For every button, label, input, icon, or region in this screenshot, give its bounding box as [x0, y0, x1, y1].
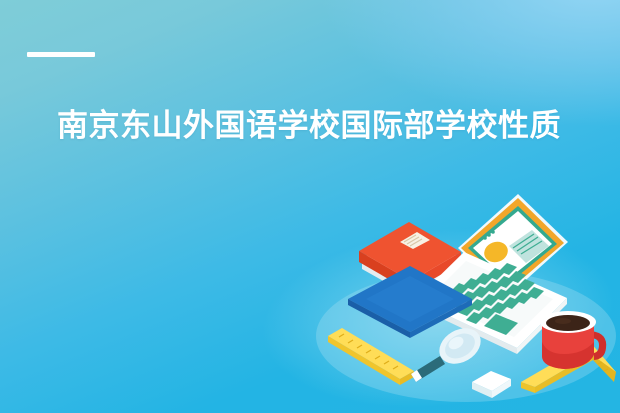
- page-title: 南京东山外国语学校国际部学校性质: [57, 104, 561, 148]
- title-accent-bar: [27, 52, 95, 57]
- window-dot: [487, 233, 491, 237]
- window-dot: [491, 230, 495, 234]
- education-desk-illustration: [306, 186, 620, 413]
- promo-banner: 南京东山外国语学校国际部学校性质: [0, 0, 620, 413]
- window-dot: [483, 236, 487, 240]
